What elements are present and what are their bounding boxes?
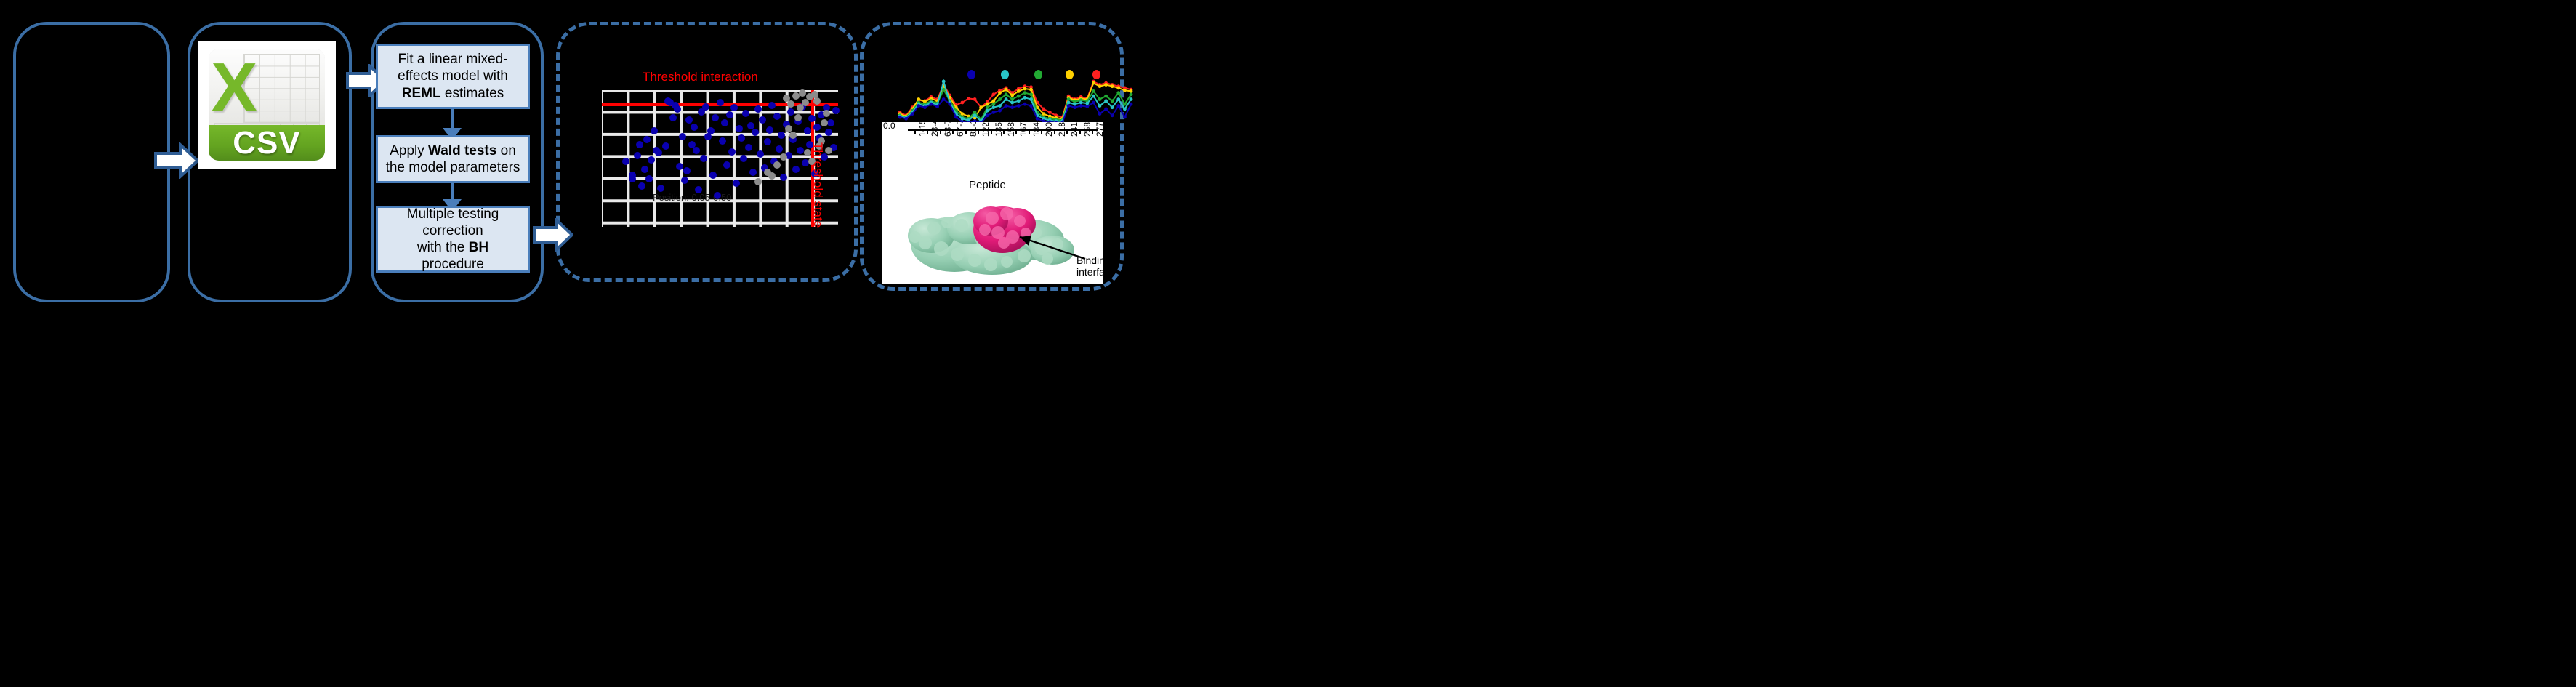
- scatter-point: [821, 119, 828, 126]
- scatter-point: [787, 100, 794, 108]
- peptide-series-marker: [935, 105, 939, 108]
- peptide-series-marker: [1010, 94, 1014, 97]
- peptide-series-marker: [1023, 87, 1027, 91]
- peptide-tick-label: 135-144: [994, 122, 1004, 137]
- scatter-point: [707, 127, 715, 134]
- peptide-series-marker: [1123, 103, 1127, 106]
- peptide-series-marker: [1111, 105, 1114, 109]
- scatter-point: [745, 144, 752, 151]
- peptide-series-marker: [1130, 89, 1133, 93]
- peptide-tick-label: 122-129: [981, 122, 991, 137]
- peptide-series-marker: [1104, 108, 1108, 111]
- scatter-point: [672, 102, 679, 109]
- scatter-point: [736, 125, 743, 132]
- scatter-point: [691, 124, 698, 131]
- peptide-series-marker: [1023, 96, 1027, 100]
- peptide-series-marker: [1073, 105, 1076, 109]
- peptide-series-marker: [992, 92, 996, 96]
- peptide-tick-label: 200-214: [1044, 122, 1054, 137]
- threshold-interaction-label: Threshold interaction: [643, 70, 758, 84]
- scatter-point: [662, 142, 669, 150]
- peptide-series-marker: [1023, 103, 1027, 106]
- scatter-point: [768, 172, 776, 180]
- peptide-series-marker: [942, 97, 946, 101]
- scatter-point: [683, 167, 691, 174]
- threshold-scatter-plot: Position: 0.05-0.50: [602, 90, 838, 227]
- peptide-chart-legend: [895, 70, 1135, 86]
- scatter-point: [638, 182, 645, 190]
- legend-dot-series-yellow: [1066, 70, 1074, 79]
- peptide-series-marker: [1005, 97, 1008, 101]
- scatter-point: [717, 99, 724, 106]
- peptide-series-marker: [973, 97, 977, 101]
- peptide-tick-label: 218-237: [1057, 122, 1067, 137]
- peptide-series-marker: [1111, 113, 1114, 117]
- multiple-testing-box[interactable]: Multiple testing correction with the BH …: [376, 206, 530, 273]
- scatter-point: [738, 134, 745, 142]
- scatter-point: [645, 175, 653, 182]
- peptide-series-marker: [979, 105, 983, 109]
- peptide-series-marker: [1073, 103, 1076, 106]
- peptide-series-marker: [998, 109, 1002, 113]
- peptide-series-marker: [1005, 88, 1008, 92]
- peptide-tick-label: 184-199: [1031, 122, 1042, 137]
- peptide-series-marker: [967, 97, 970, 100]
- peptide-series-marker: [1079, 101, 1083, 105]
- peptide-series-marker: [1123, 108, 1127, 111]
- scatter-point: [726, 111, 733, 118]
- peptide-tick-label: 158-166: [1006, 122, 1016, 137]
- peptide-tick-label: 241-257: [1069, 122, 1079, 137]
- fit-model-box[interactable]: Fit a linear mixed- effects model with R…: [376, 44, 530, 109]
- peptide-series-marker: [1067, 97, 1071, 101]
- peptide-series-marker: [1042, 108, 1045, 111]
- scatter-point: [651, 127, 658, 134]
- scatter-point: [780, 174, 787, 181]
- peptide-tick-label: 258-266: [1082, 122, 1092, 137]
- scatter-point: [808, 115, 816, 122]
- scatter-point: [752, 129, 759, 136]
- scatter-point: [778, 132, 785, 139]
- scatter-points-layer: [602, 90, 838, 227]
- scatter-point: [825, 147, 832, 154]
- scatter-point: [754, 178, 762, 185]
- peptide-series-marker: [1085, 102, 1089, 105]
- scatter-point: [754, 105, 762, 113]
- peptide-series-marker: [1092, 101, 1095, 105]
- peptide-tick-label: 1-15: [917, 122, 927, 137]
- peptide-tick-labels: 1-1528-4463-7367-7581-101122-129135-1441…: [882, 122, 1103, 180]
- peptide-series-marker: [973, 111, 977, 114]
- peptide-series-marker: [1104, 95, 1108, 98]
- scatter-point: [799, 89, 806, 97]
- scatter-point: [804, 127, 811, 134]
- peptide-series-marker: [911, 112, 914, 116]
- peptide-series-marker: [1116, 87, 1120, 90]
- peptide-series-marker: [973, 113, 977, 117]
- scatter-point: [825, 129, 832, 136]
- peptide-series-marker: [986, 105, 989, 109]
- scatter-point: [653, 147, 660, 154]
- scatter-point: [629, 175, 636, 182]
- scatter-point: [764, 138, 771, 145]
- peptide-series-marker: [1036, 117, 1039, 121]
- scatter-point: [712, 114, 719, 121]
- scatter-point: [681, 177, 688, 184]
- peptide-series-marker: [954, 116, 958, 119]
- scatter-point: [730, 104, 738, 111]
- scatter-point: [702, 103, 709, 111]
- figure-canvas: X CSV Fit a linear mixed- effects model …: [0, 0, 2576, 687]
- scatter-point: [794, 114, 802, 121]
- peptide-series-marker: [1048, 111, 1052, 114]
- scatter-point: [773, 113, 781, 120]
- peptide-series-marker: [1098, 112, 1102, 116]
- legend-dot-series-blue: [967, 70, 975, 79]
- scatter-point: [768, 102, 776, 109]
- peptide-series-marker: [917, 104, 920, 108]
- peptide-series-marker: [998, 97, 1002, 101]
- input-arrow: [154, 142, 199, 179]
- scatter-point: [787, 108, 794, 116]
- scatter-point: [657, 185, 664, 192]
- scatter-point: [719, 137, 726, 145]
- peptide-series-marker: [986, 109, 989, 113]
- peptide-series-marker: [1017, 104, 1021, 108]
- peptide-tick-label: 67-75: [955, 122, 965, 137]
- legend-dot-series-cyan: [1001, 70, 1009, 79]
- peptide-series-marker: [1123, 89, 1127, 92]
- binding-line-2: interface: [1076, 266, 1103, 278]
- wald-tests-text: Apply Wald tests on the model parameters: [386, 142, 520, 176]
- scatter-point: [742, 110, 749, 117]
- scatter-point: [766, 126, 773, 134]
- scatter-point: [780, 153, 787, 161]
- scatter-point: [757, 150, 764, 158]
- multiple-testing-text: Multiple testing correction with the BH …: [385, 206, 520, 273]
- peptide-series-marker: [992, 111, 996, 114]
- scatter-point: [669, 114, 677, 121]
- csv-label-band: CSV: [209, 125, 325, 161]
- scatter-point: [700, 155, 707, 162]
- peptide-series-marker: [961, 101, 965, 105]
- scatter-point: [785, 125, 792, 132]
- peptide-series-marker: [1017, 95, 1021, 98]
- wald-tests-box[interactable]: Apply Wald tests on the model parameters: [376, 135, 530, 183]
- scatter-point: [823, 110, 830, 117]
- peptide-series-marker: [992, 105, 996, 109]
- peptide-tick-label: 277-284: [1095, 122, 1103, 137]
- peptide-series-marker: [948, 103, 951, 106]
- peptide-series-marker: [961, 117, 965, 121]
- peptide-series-marker: [1098, 97, 1102, 101]
- peptide-axis-inset: 0.0 1-1528-4463-7367-7581-101122-129135-…: [882, 122, 1103, 284]
- peptide-series-marker: [1010, 97, 1014, 101]
- scatter-point: [643, 136, 651, 143]
- peptide-tick-label: 81-101: [968, 122, 978, 137]
- scatter-point: [636, 141, 643, 148]
- scatter-point: [797, 147, 804, 154]
- peptide-series-marker: [1067, 104, 1071, 108]
- scatter-point: [679, 133, 686, 140]
- scatter-point: [827, 119, 834, 126]
- peptide-series-marker: [1023, 91, 1027, 95]
- scatter-point: [641, 166, 648, 173]
- peptide-series-marker: [1029, 97, 1033, 101]
- scatter-point: [721, 119, 728, 126]
- scatter-point: [723, 161, 730, 169]
- peptide-series-marker: [930, 103, 933, 106]
- peptide-series-marker: [1079, 104, 1083, 108]
- scatter-point: [714, 192, 721, 199]
- peptide-series-line: [900, 81, 1131, 121]
- peptide-series-marker: [1017, 99, 1021, 103]
- peptide-series-marker: [1042, 112, 1045, 116]
- peptide-series-marker: [1130, 103, 1133, 106]
- peptide-series-marker: [998, 104, 1002, 108]
- peptide-series-marker: [1029, 88, 1033, 92]
- peptide-series-marker: [1092, 95, 1095, 98]
- peptide-series-marker: [1130, 92, 1133, 96]
- peptide-series-marker: [1010, 105, 1014, 109]
- peptide-series-marker: [1098, 104, 1102, 108]
- threshold-state-label: Threshold state: [810, 142, 825, 228]
- scatter-point: [773, 161, 781, 169]
- scatter-point: [749, 169, 757, 176]
- peptide-series-marker: [1005, 104, 1008, 108]
- binding-interface-annotation: Binding interface: [1076, 254, 1103, 278]
- peptide-series-marker: [992, 99, 996, 103]
- legend-dot-series-red: [1092, 70, 1100, 79]
- peptide-series-marker: [1005, 92, 1008, 96]
- peptide-series-marker: [1116, 104, 1120, 108]
- scatter-point: [832, 107, 840, 114]
- scatter-point: [709, 172, 717, 179]
- peptide-series-marker: [1017, 89, 1021, 93]
- results-arrow: [533, 218, 573, 252]
- scatter-point: [676, 163, 683, 170]
- peptide-series-marker: [898, 116, 902, 119]
- scatter-point: [685, 116, 693, 124]
- peptide-tick-label: 63-73: [943, 122, 953, 137]
- peptide-series-marker: [917, 97, 920, 101]
- fit-model-text: Fit a linear mixed- effects model with R…: [398, 51, 508, 102]
- peptide-series-marker: [1104, 99, 1108, 103]
- peptide-series-marker: [923, 105, 927, 109]
- peptide-series-marker: [1085, 105, 1089, 108]
- peptide-series-marker: [998, 91, 1002, 95]
- excel-x-glyph: X: [216, 53, 253, 123]
- peptide-tick-label: 167-180: [1018, 122, 1029, 137]
- protein-structure-render: [882, 192, 1103, 284]
- peptide-series-marker: [1092, 89, 1095, 93]
- peptide-series-marker: [904, 117, 908, 121]
- peptide-series-marker: [986, 113, 989, 117]
- scatter-point: [813, 97, 821, 105]
- scatter-point: [792, 166, 800, 173]
- scatter-point: [733, 180, 740, 187]
- scatter-point: [648, 156, 655, 164]
- scatter-point: [622, 158, 629, 165]
- csv-icon-body: X CSV: [209, 49, 325, 161]
- peptide-series-marker: [1029, 92, 1033, 96]
- peptide-series-marker: [1123, 116, 1127, 119]
- input-panel: [13, 22, 170, 302]
- scatter-point: [776, 145, 783, 153]
- peptide-series-marker: [986, 103, 989, 106]
- scatter-point: [695, 186, 702, 193]
- scatter-point: [728, 148, 736, 156]
- peptide-series-marker: [992, 103, 996, 106]
- peptide-axis-title: Peptide: [969, 179, 1006, 191]
- scatter-point: [693, 147, 700, 154]
- peptide-series-marker: [1067, 101, 1071, 105]
- scatter-point: [802, 159, 809, 166]
- scatter-point: [634, 152, 641, 159]
- peptide-series-marker: [1130, 97, 1133, 101]
- legend-dot-series-green: [1034, 70, 1042, 79]
- csv-label-text: CSV: [233, 125, 300, 161]
- scatter-point: [759, 116, 766, 124]
- peptide-tick-label: 28-44: [930, 122, 940, 137]
- peptide-series-marker: [1029, 104, 1033, 108]
- peptide-series-marker: [1116, 91, 1120, 95]
- scatter-point: [740, 155, 747, 162]
- peptide-series-marker: [1116, 97, 1120, 101]
- csv-file-icon[interactable]: X CSV: [198, 41, 336, 169]
- peptide-series-marker: [1010, 101, 1014, 105]
- peptide-series-marker: [1111, 99, 1114, 103]
- scatter-point: [792, 92, 800, 100]
- scatter-point: [813, 124, 821, 131]
- binding-line-1: Binding: [1076, 254, 1103, 266]
